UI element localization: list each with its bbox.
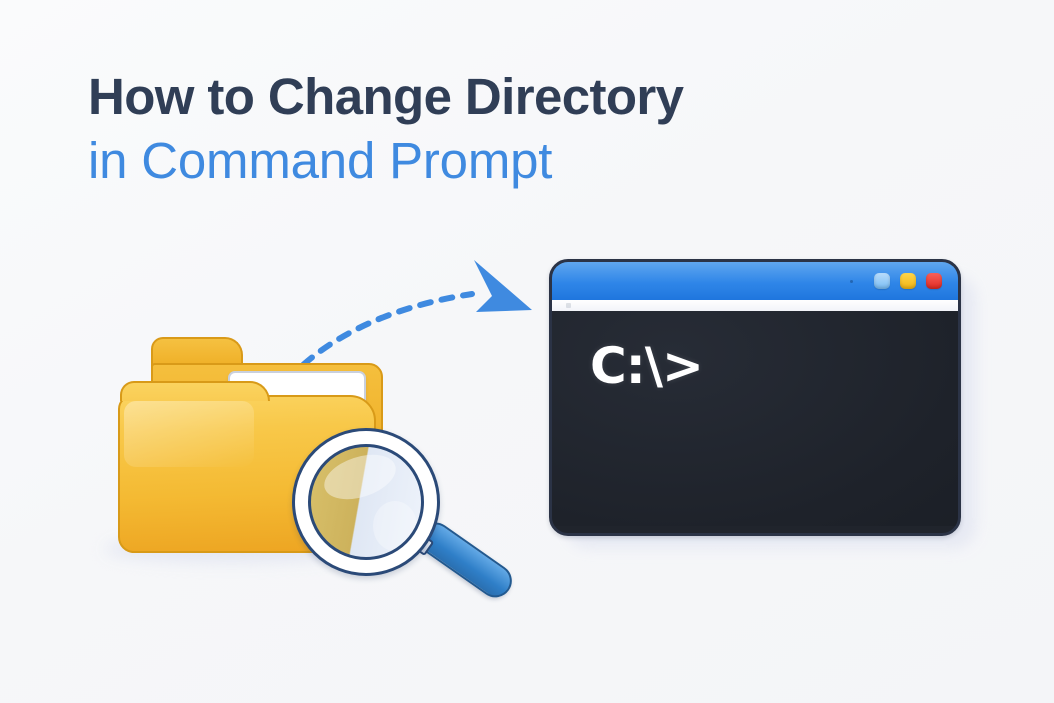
close-button[interactable] [926, 273, 942, 289]
command-prompt-text: C:\> [590, 337, 703, 395]
maximize-button[interactable] [900, 273, 916, 289]
folder-front-notch [120, 381, 270, 401]
magnifying-glass-icon[interactable] [292, 428, 557, 608]
magnifier-ring [292, 428, 440, 576]
folder-gloss [124, 401, 254, 467]
terminal-toolbar-strip [552, 300, 958, 311]
page-title-line1: How to Change Directory [88, 66, 868, 128]
magnifier-lens [308, 444, 424, 560]
page-title-line2: in Command Prompt [88, 128, 868, 194]
terminal-titlebar[interactable] [552, 262, 958, 300]
terminal-console-area[interactable]: C:\> [552, 311, 958, 526]
toolbar-marker [566, 303, 571, 308]
minimize-button[interactable] [874, 273, 890, 289]
lens-highlight [319, 447, 402, 508]
lens-highlight-secondary [373, 501, 417, 551]
titlebar-marker [850, 280, 853, 283]
illustration-canvas: How to Change Directory in Command Promp… [0, 0, 1054, 703]
terminal-window[interactable]: C:\> [549, 259, 961, 536]
page-title: How to Change Directory in Command Promp… [88, 66, 868, 194]
